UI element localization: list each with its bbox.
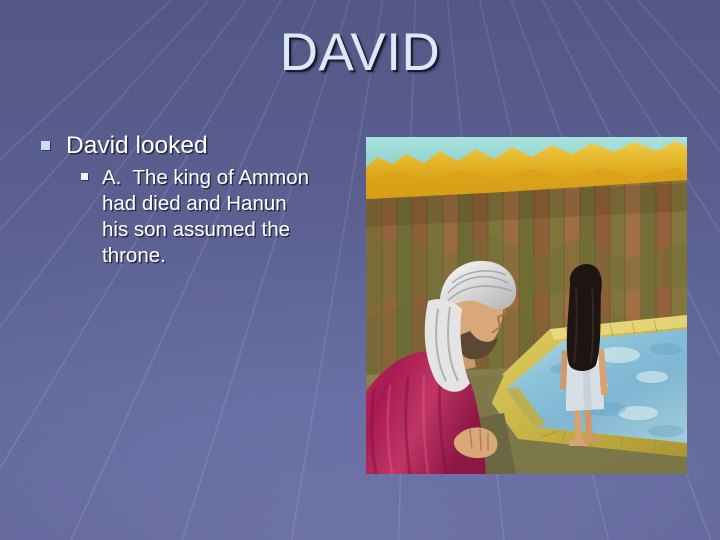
slide-body-content: David looked A. The king of Ammon had di…	[38, 132, 356, 269]
square-sub-bullet-icon	[81, 173, 88, 180]
bullet-level2-line-2: had died and Hanun	[102, 191, 356, 217]
page-title: DAVID	[280, 26, 441, 79]
bullet-level2-line-3: his son assumed the	[102, 217, 356, 243]
bullet-level2-group: A. The king of Ammon had died and Hanun …	[38, 165, 356, 268]
bullet-level1-item: David looked	[38, 132, 356, 159]
slide-title-container: DAVID	[50, 26, 670, 79]
bullet-level2-line-1: A. The king of Ammon	[102, 165, 356, 191]
bullet-level2-item: A. The king of Ammon had died and Hanun …	[80, 165, 356, 268]
bullet-level1-label: David looked	[66, 132, 208, 159]
presentation-slide: DAVID David looked A. The king of Ammon …	[0, 0, 720, 540]
slide-illustration	[366, 137, 687, 474]
square-bullet-icon	[41, 141, 50, 150]
bullet-level2-line-4: throne.	[102, 243, 356, 269]
